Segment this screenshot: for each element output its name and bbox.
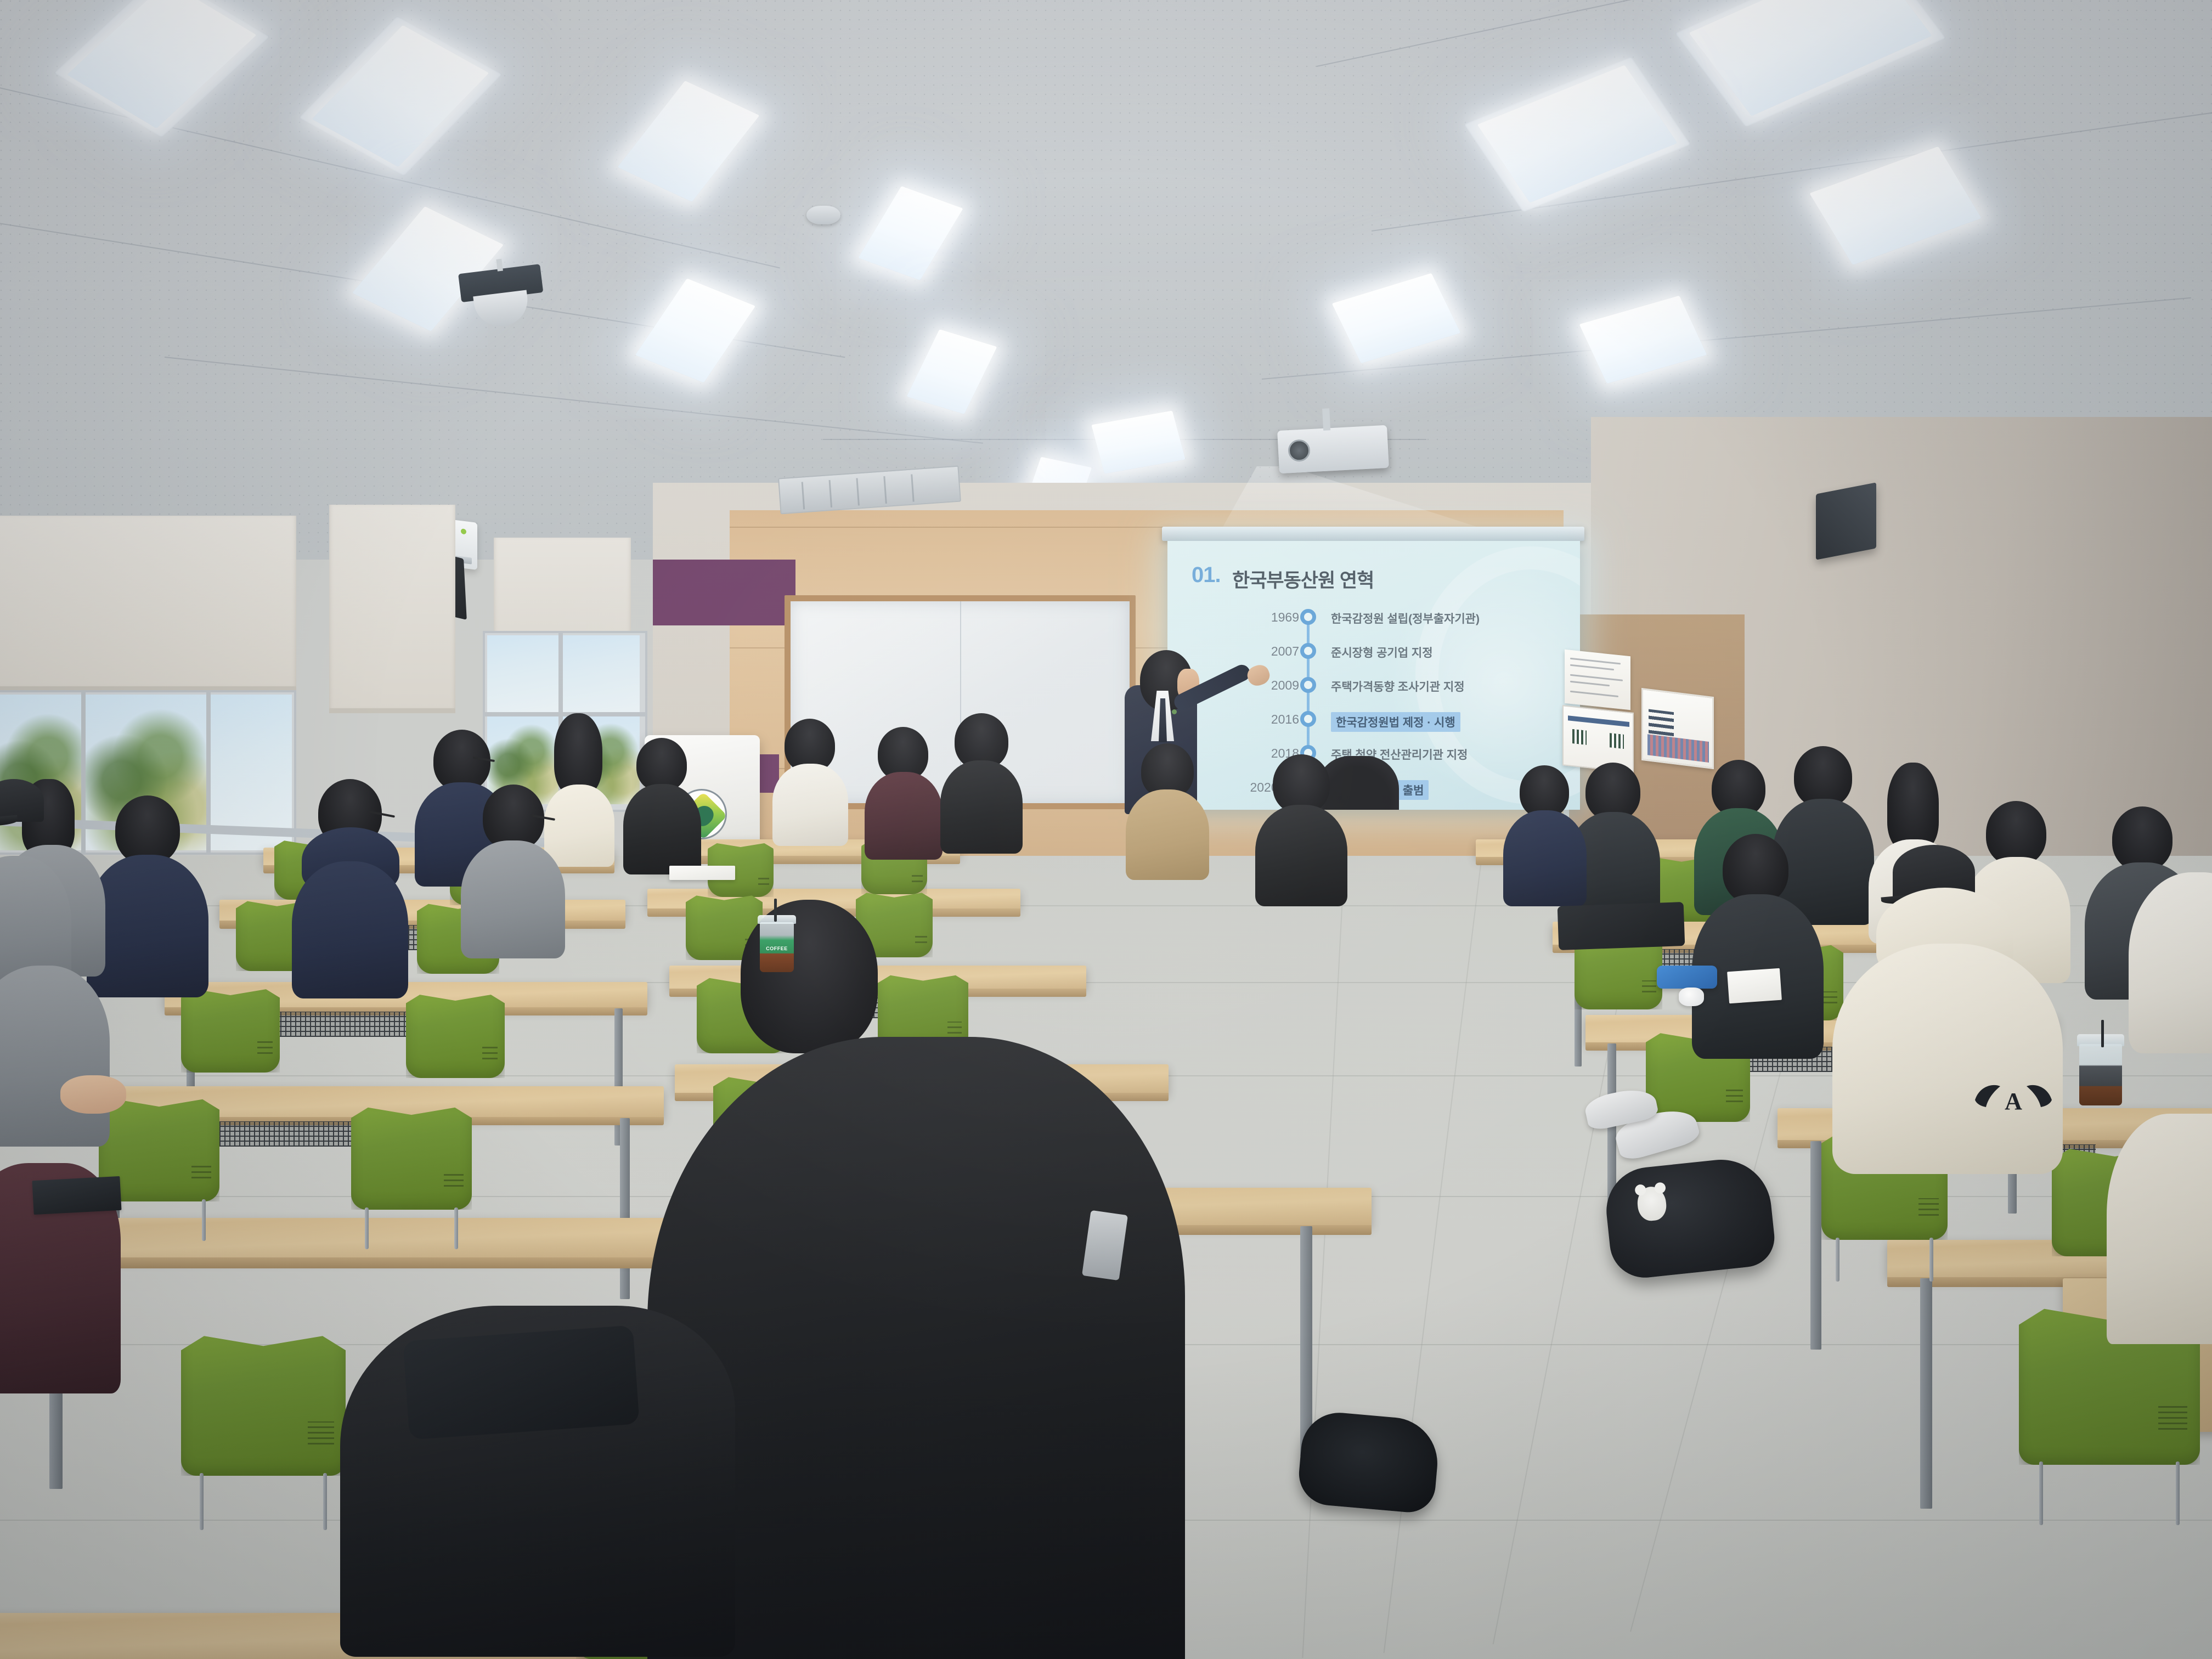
window-blind[interactable] [0,516,296,691]
coffee-cup-green[interactable]: COFFEE [760,915,794,972]
slide-number: 01. [1192,563,1221,588]
ceiling-projector [1277,425,1389,473]
timeline-year: 1969 [1233,610,1299,625]
window-pane [563,635,640,712]
chair[interactable] [351,1105,472,1210]
timeline-text: 한국감정원 설립(정부출자기관) [1331,610,1480,627]
timeline-row: 1969 한국감정원 설립(정부출자기관) [1167,610,1580,629]
timeline-text: 주택가격동향 조사기관 지정 [1331,678,1465,695]
timeline-text-highlighted: 한국감정원법 제정 · 시행 [1331,712,1460,732]
slide-title: 한국부동산원 연혁 [1232,565,1374,593]
svg-text:A: A [2005,1088,2022,1115]
window-blind[interactable] [329,505,455,713]
laptop-bag [1558,902,1685,950]
timeline-text: 준시장형 공기업 지정 [1331,644,1433,661]
window-pane [487,635,558,712]
jacket-on-chair [403,1325,640,1440]
hoodie-laurel-logo-icon: A [1970,1075,2057,1125]
timeline-dot-icon [1300,643,1316,659]
chair[interactable] [181,1333,346,1476]
timeline-dot-icon [1300,677,1316,693]
wall-speaker-right [1816,482,1876,560]
projector-lens-icon [1288,439,1311,462]
chair[interactable] [181,988,280,1073]
pencil-case[interactable] [1657,966,1717,989]
timeline-dot-icon [1300,609,1316,625]
wall-notice-text [1565,650,1630,710]
backpack [1602,1155,1777,1281]
smoke-detector-icon [806,206,840,224]
accent-band-purple [653,560,795,625]
presenter-pointing-hand [1245,662,1272,689]
bear-charm-icon [1636,1186,1668,1222]
notebook[interactable] [1727,968,1782,1004]
wall-notice-qr [1562,705,1634,773]
classroom-photo: 01. 한국부동산원 연혁 1969 한국감정원 설립(정부출자기관) 2007… [0,0,2212,1659]
projection-screen-housing [1162,527,1584,541]
earbuds-case[interactable] [1679,988,1704,1006]
coffee-cup-iced[interactable] [2079,1034,2122,1105]
ceiling-camera-device [458,264,546,323]
notebook-dark[interactable] [32,1176,121,1215]
timeline-dot-icon [1300,711,1316,727]
wall-poster-chart [1641,688,1714,769]
chair[interactable] [406,993,505,1078]
notebook[interactable] [669,866,735,880]
